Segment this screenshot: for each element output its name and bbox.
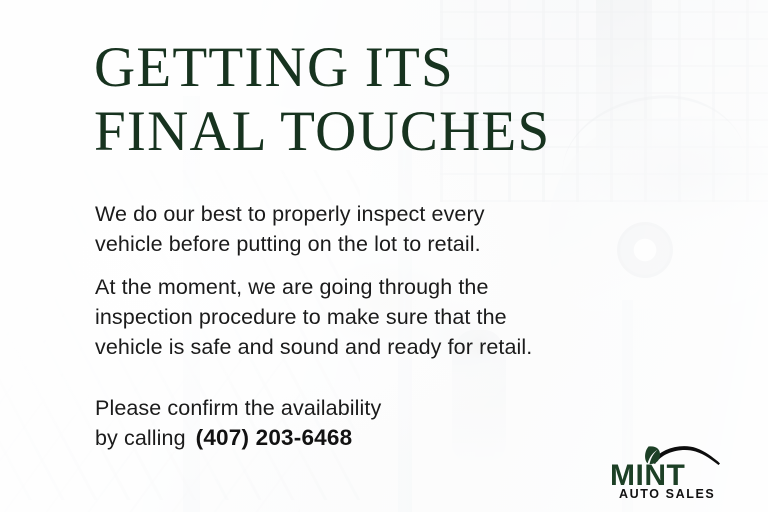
paragraph-2-line-3: vehicle is safe and sound and ready for … <box>95 332 675 362</box>
body-copy: We do our best to properly inspect every… <box>95 199 675 362</box>
page-title: Getting Its Final Touches <box>94 36 694 164</box>
paragraph-1-line-2: vehicle before putting on the lot to ret… <box>95 229 675 259</box>
promo-card: Getting Its Final Touches We do our best… <box>0 0 768 512</box>
paragraph-1-line-1: We do our best to properly inspect every <box>95 199 675 229</box>
call-to-action: Please confirm the availability by calli… <box>95 393 615 453</box>
paragraph-inspection-status: At the moment, we are going through the … <box>95 272 675 362</box>
headline-line-1: Getting Its <box>94 36 694 100</box>
paragraph-2-line-2: inspection procedure to make sure that t… <box>95 302 675 332</box>
mint-auto-sales-logo[interactable]: MINT AUTO SALES <box>608 440 738 502</box>
paragraph-inspection-intro: We do our best to properly inspect every… <box>95 199 675 259</box>
paragraph-2-line-1: At the moment, we are going through the <box>95 272 675 302</box>
cta-line-2: by calling(407) 203-6468 <box>95 423 615 453</box>
headline-line-2: Final Touches <box>94 100 694 164</box>
card-content: Getting Its Final Touches We do our best… <box>0 0 768 512</box>
cta-line-1: Please confirm the availability <box>95 393 615 423</box>
phone-number-link[interactable]: (407) 203-6468 <box>196 425 353 450</box>
cta-call-prefix: by calling <box>95 426 186 450</box>
logo-tagline-text: AUTO SALES <box>619 487 715 501</box>
